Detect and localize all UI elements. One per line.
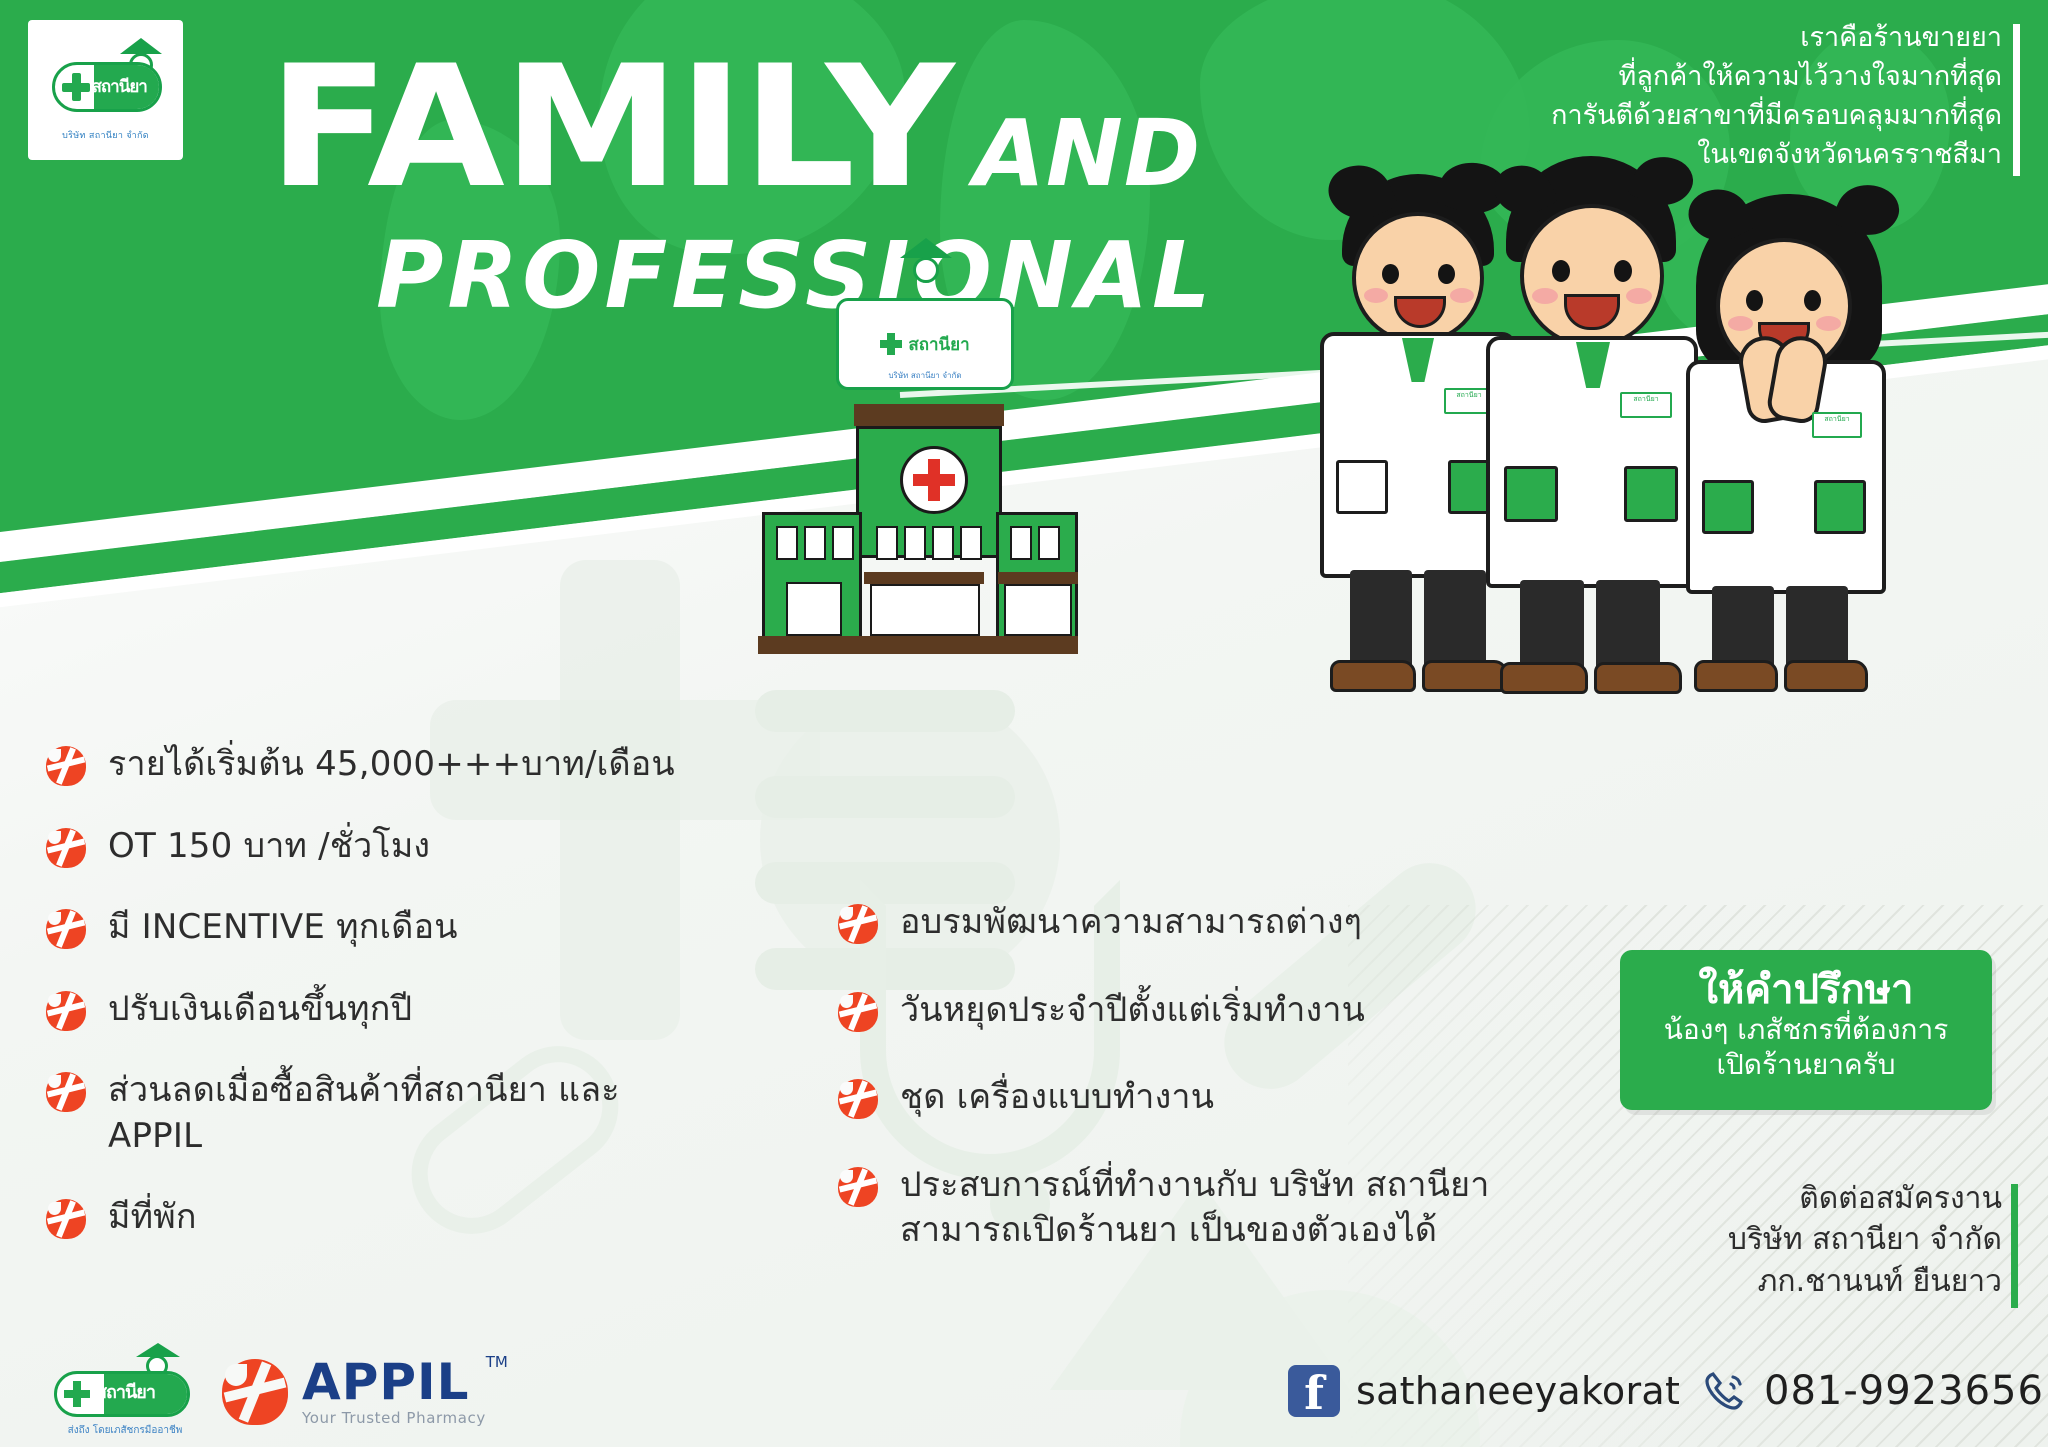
cheek (1816, 316, 1841, 331)
pharmacy-capsule-icon: สถานียา (46, 38, 166, 124)
benefits-list-right: อบรมพัฒนาความสามารถต่างๆ วันหยุดประจำปีต… (838, 900, 1558, 1296)
appil-wordmark: APPIL TM Your Trusted Pharmacy (302, 1357, 486, 1427)
facebook-page-name: sathaneeyakorat (1356, 1369, 1680, 1413)
brand-logo: สถานียา บริษัท สถานียา จำกัด (28, 20, 183, 160)
cheek (1532, 288, 1558, 304)
red-cross-emblem-icon (900, 446, 968, 514)
list-item: ชุด เครื่องแบบทำงาน (838, 1075, 1558, 1121)
benefit-text: OT 150 บาท /ชั่วโมง (108, 824, 430, 870)
benefit-text: มี INCENTIVE ทุกเดือน (108, 905, 458, 951)
contact-accent-bar (2011, 1184, 2018, 1308)
list-item: ปรับเงินเดือนขึ้นทุกปี (46, 987, 686, 1033)
cheek (1364, 288, 1388, 303)
benefit-text: ชุด เครื่องแบบทำงาน (900, 1075, 1214, 1121)
building-sign-name: สถานียา (908, 331, 969, 358)
headline-word-and: AND (974, 108, 1202, 200)
building-window (832, 526, 854, 560)
contact-line-2: บริษัท สถานียา จำกัด (1502, 1219, 2002, 1260)
building-window (1038, 526, 1060, 560)
list-item: มี INCENTIVE ทุกเดือน (46, 905, 686, 951)
cheek (1728, 316, 1753, 331)
coat-pocket-green (1624, 466, 1678, 522)
eye (1614, 260, 1632, 282)
appil-bullet-icon (838, 1079, 878, 1119)
tagline-line-3: การันตีด้วยสาขาที่มีครอบคลุมมากที่สุด (1362, 96, 2002, 135)
list-item: มีที่พัก (46, 1195, 686, 1241)
phone-contact[interactable]: 081-9923656 (1700, 1367, 2044, 1415)
shoe (1784, 660, 1868, 692)
building-window (904, 526, 926, 560)
shoe (1330, 660, 1416, 692)
logo-name-text: สถานียา (92, 69, 147, 105)
benefit-text: รายได้เริ่มต้น 45,000+++บาท/เดือน (108, 742, 675, 788)
contact-line-1: ติดต่อสมัครงาน (1502, 1178, 2002, 1219)
coat-pocket-green (1702, 480, 1754, 534)
pharmacist-characters-illustration: สถานียา สถานียา (1290, 160, 2010, 680)
list-item: อบรมพัฒนาความสามารถต่างๆ (838, 900, 1558, 946)
building-awning (864, 572, 984, 584)
building-window (932, 526, 954, 560)
building-awning (998, 572, 1078, 584)
building-roof (854, 404, 1004, 426)
phone-icon (1700, 1367, 1748, 1415)
building-display-window (870, 584, 980, 636)
consult-line-2: เปิดร้านยาครับ (1620, 1047, 1992, 1082)
appil-bullet-icon (46, 909, 86, 949)
benefit-text: วันหยุดประจำปีตั้งแต่เริ่มทำงาน (900, 988, 1365, 1034)
building-window (1010, 526, 1032, 560)
list-item: วันหยุดประจำปีตั้งแต่เริ่มทำงาน (838, 988, 1558, 1034)
medical-cross-icon (62, 73, 90, 101)
shoe (1422, 660, 1508, 692)
building-window (876, 526, 898, 560)
appil-bullet-icon (46, 1072, 86, 1112)
building-sign: สถานียา บริษัท สถานียา จำกัด (836, 298, 1014, 390)
building-display-window (1004, 584, 1072, 636)
footer-logo-subtitle: ส่งถึง โดยเภสัชกรมืออาชีพ (40, 1423, 210, 1438)
cheek (1450, 288, 1474, 303)
consultation-box[interactable]: ให้คำปรึกษา น้องๆ เภสัชกรที่ต้องการ เปิด… (1620, 950, 1992, 1110)
appil-name: APPIL (302, 1353, 469, 1411)
benefit-text: มีที่พัก (108, 1195, 197, 1241)
consult-heading: ให้คำปรึกษา (1620, 968, 1992, 1012)
page-title: FAMILY AND PROFESSIONAL (268, 48, 1388, 322)
cheek (1626, 288, 1652, 304)
footer-brand-logo: สถานียา ส่งถึง โดยเภสัชกรมืออาชีพ (40, 1343, 210, 1439)
coat-pocket (1336, 460, 1388, 514)
appil-bullet-icon (46, 991, 86, 1031)
facebook-glyph: f (1288, 1370, 1340, 1416)
benefit-text: ประสบการณ์ที่ทำงานกับ บริษัท สถานียา สาม… (900, 1163, 1520, 1254)
benefit-text: อบรมพัฒนาความสามารถต่างๆ (900, 900, 1362, 946)
building-clock-tower-icon (900, 238, 952, 300)
tagline-line-2: ที่ลูกค้าให้ความไว้วางใจมากที่สุด (1362, 57, 2002, 96)
medical-cross-icon (64, 1381, 90, 1407)
benefits-list-left: รายได้เริ่มต้น 45,000+++บาท/เดือน OT 150… (46, 742, 686, 1277)
contact-block: ติดต่อสมัครงาน บริษัท สถานียา จำกัด ภก.ช… (1502, 1178, 2002, 1302)
list-item: ประสบการณ์ที่ทำงานกับ บริษัท สถานียา สาม… (838, 1163, 1558, 1254)
list-item: รายได้เริ่มต้น 45,000+++บาท/เดือน (46, 742, 686, 788)
logo-subtitle: บริษัท สถานียา จำกัด (62, 128, 149, 142)
footer-logo-name: สถานียา (96, 1377, 155, 1406)
building-base (758, 636, 1078, 654)
phone-number: 081-9923656 (1764, 1368, 2044, 1414)
eye (1382, 264, 1399, 284)
facebook-contact[interactable]: f sathaneeyakorat (1288, 1365, 1680, 1417)
eye (1746, 290, 1763, 311)
contact-line-3: ภก.ชานนท์ ยืนยาว (1502, 1261, 2002, 1302)
eye (1552, 260, 1570, 282)
pharmacy-building-illustration: สถานียา บริษัท สถานียา จำกัด (758, 300, 1078, 670)
list-item: ส่วนลดเมื่อซื้อสินค้าที่สถานียา และ APPI… (46, 1068, 686, 1159)
benefit-text: ปรับเงินเดือนขึ้นทุกปี (108, 987, 412, 1033)
building-window (804, 526, 826, 560)
building-sign-sub: บริษัท สถานียา จำกัด (839, 369, 1011, 382)
shoe (1500, 662, 1588, 694)
building-window (960, 526, 982, 560)
tagline-line-1: เราคือร้านขายยา (1362, 18, 2002, 57)
medical-cross-icon (880, 333, 902, 355)
facebook-icon[interactable]: f (1288, 1365, 1340, 1417)
list-item: OT 150 บาท /ชั่วโมง (46, 824, 686, 870)
appil-logo: APPIL TM Your Trusted Pharmacy (222, 1357, 486, 1427)
shoe (1694, 660, 1778, 692)
appil-mark-icon (222, 1359, 288, 1425)
name-badge: สถานียา (1620, 392, 1672, 418)
name-badge: สถานียา (1812, 412, 1862, 438)
poster-root: สถานียา บริษัท สถานียา จำกัด FAMILY AND … (0, 0, 2048, 1447)
appil-tagline: Your Trusted Pharmacy (302, 1409, 486, 1427)
benefit-text: ส่วนลดเมื่อซื้อสินค้าที่สถานียา และ APPI… (108, 1068, 686, 1159)
tagline-accent-bar (2013, 24, 2020, 176)
shoe (1594, 662, 1682, 694)
building-window (776, 526, 798, 560)
tagline-block: เราคือร้านขายยา ที่ลูกค้าให้ความไว้วางใจ… (1362, 18, 2002, 175)
trademark-symbol: TM (486, 1353, 508, 1371)
appil-bullet-icon (46, 1199, 86, 1239)
eye (1804, 290, 1821, 311)
building-door (786, 582, 842, 636)
coat-pocket-green (1814, 480, 1866, 534)
appil-bullet-icon (838, 1167, 878, 1207)
eye (1438, 264, 1455, 284)
footer-bar: สถานียา ส่งถึง โดยเภสัชกรมืออาชีพ APPIL … (0, 1335, 2048, 1447)
appil-bullet-icon (838, 992, 878, 1032)
appil-bullet-icon (46, 746, 86, 786)
coat-pocket-green (1504, 466, 1558, 522)
appil-bullet-icon (838, 904, 878, 944)
headline-word-family: FAMILY (268, 48, 952, 208)
appil-bullet-icon (46, 828, 86, 868)
consult-line-1: น้องๆ เภสัชกรที่ต้องการ (1620, 1012, 1992, 1047)
